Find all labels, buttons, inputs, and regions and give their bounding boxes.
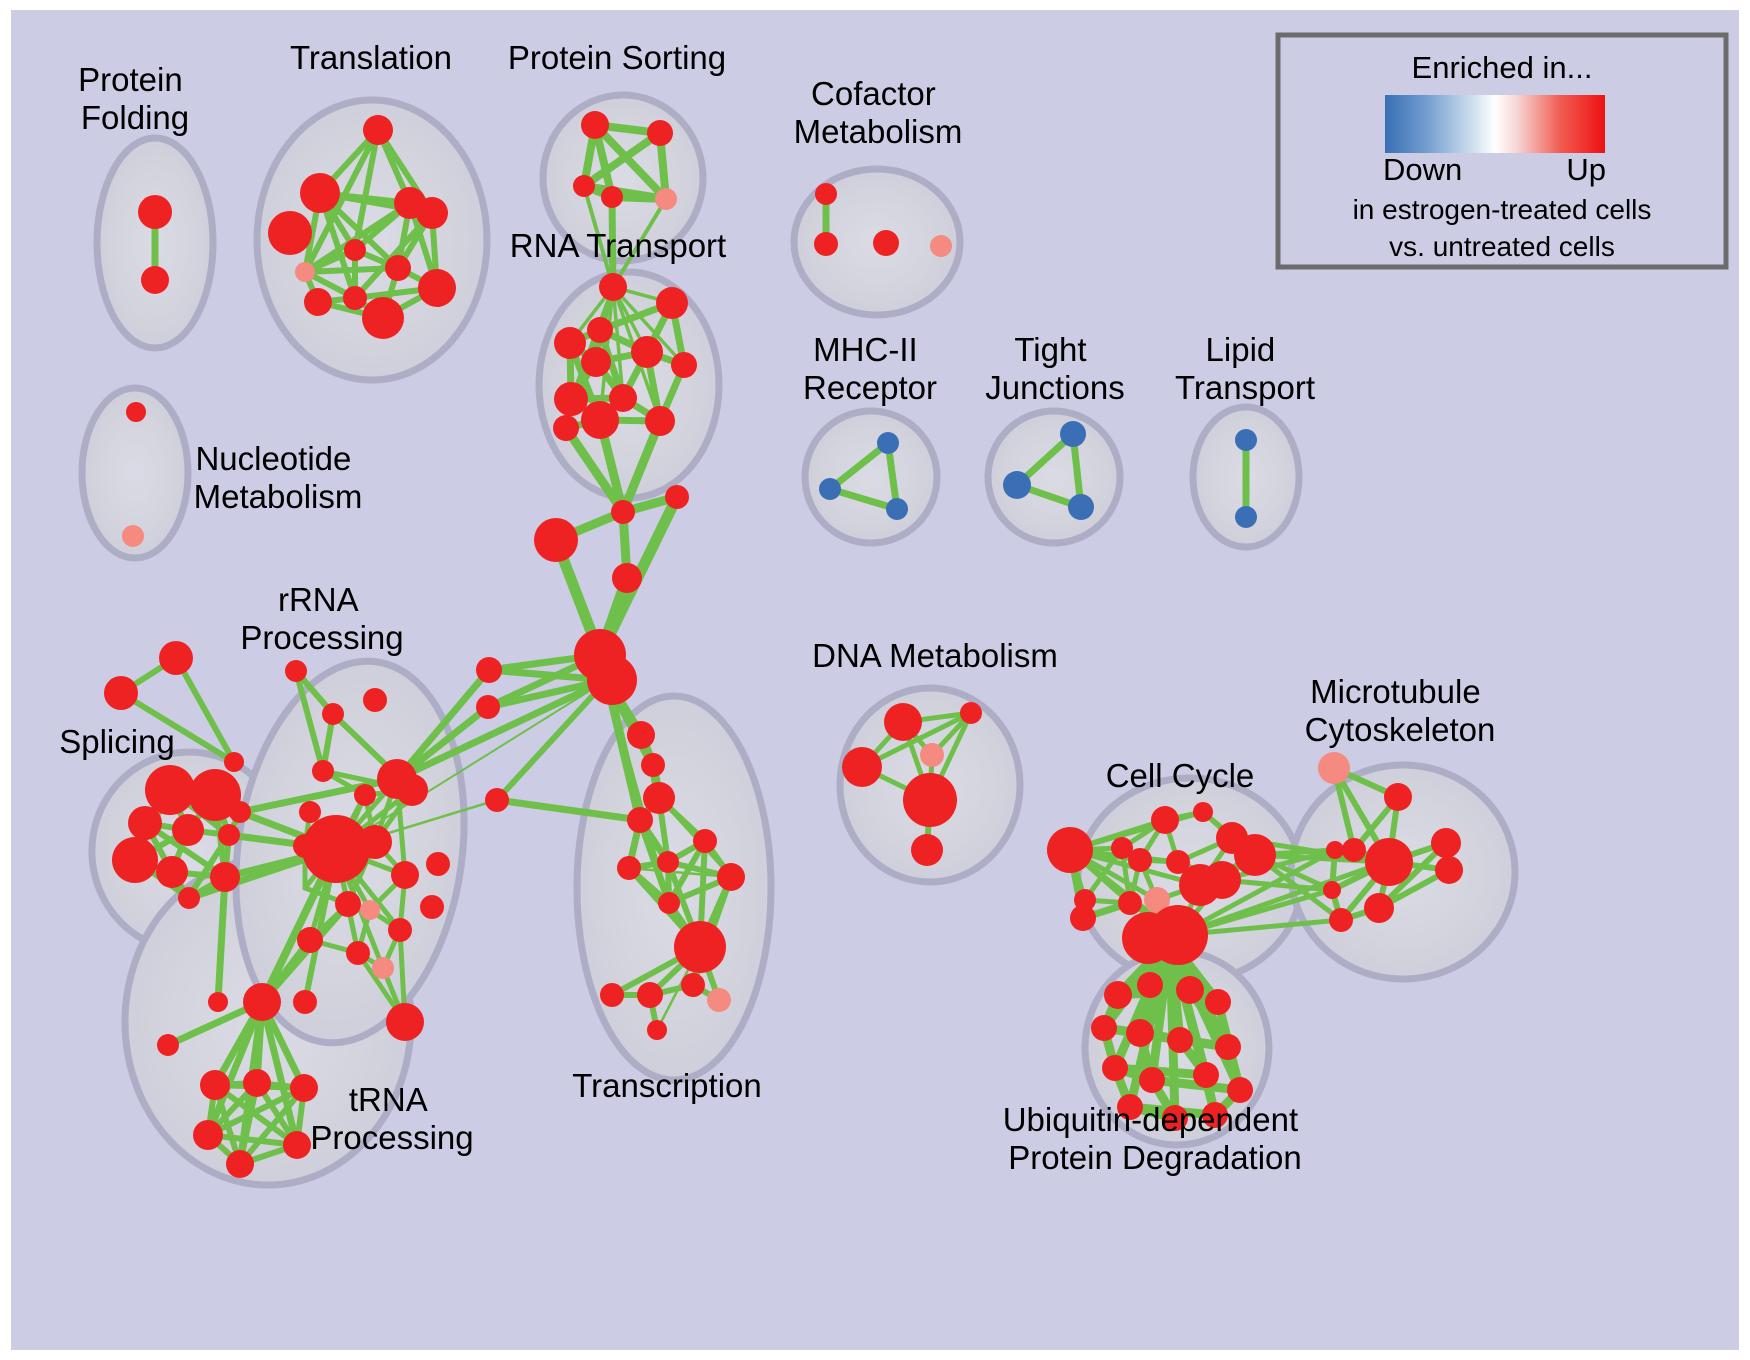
node (815, 183, 837, 205)
cluster-blob-transcription (577, 696, 771, 1080)
node (960, 702, 982, 724)
node (172, 814, 204, 846)
node (641, 753, 665, 777)
node (587, 317, 613, 343)
node (581, 347, 611, 377)
cluster-label-transcription: Transcription (572, 1067, 762, 1104)
node (643, 782, 675, 814)
node (1431, 828, 1461, 858)
node (476, 657, 502, 683)
cluster-label-protein-sorting: Protein Sorting (508, 39, 726, 76)
node (1326, 841, 1344, 859)
node (671, 352, 697, 378)
node (877, 432, 899, 454)
node (126, 402, 146, 422)
node (218, 824, 240, 846)
node (647, 120, 673, 146)
node (138, 195, 172, 229)
node (157, 1034, 179, 1056)
node (354, 784, 376, 806)
node (911, 834, 943, 866)
node (300, 173, 340, 213)
node (674, 921, 726, 973)
node (386, 1003, 424, 1041)
node (377, 759, 417, 799)
node (554, 327, 586, 359)
node (1365, 838, 1413, 886)
node (920, 743, 944, 767)
node (573, 175, 595, 197)
cluster-label-rna-transport: RNA Transport (510, 227, 726, 264)
node (657, 851, 679, 873)
node (1203, 861, 1241, 899)
node (1176, 976, 1204, 1004)
node (285, 660, 307, 682)
legend-caption-line1: in estrogen-treated cells (1353, 194, 1652, 225)
node (1193, 1062, 1219, 1088)
legend: Enriched in... Down Up in estrogen-treat… (1278, 35, 1726, 267)
cluster-label-microtubule-cytoskeleton: Microtubule Cytoskeleton (1305, 673, 1496, 748)
node (363, 688, 387, 712)
node (360, 900, 380, 920)
node (372, 957, 394, 979)
node (1435, 856, 1463, 884)
node (210, 862, 240, 892)
node (1139, 1067, 1165, 1093)
node (581, 401, 619, 439)
node (873, 230, 899, 256)
node (344, 239, 366, 261)
node (243, 1069, 271, 1097)
node (707, 988, 731, 1012)
node (1074, 889, 1096, 911)
legend-title: Enriched in... (1412, 50, 1593, 85)
node (358, 825, 392, 859)
node (1384, 783, 1412, 811)
node (1151, 806, 1179, 834)
node (1091, 1015, 1117, 1041)
figure-root: Protein Folding Translation Protein Sort… (0, 0, 1750, 1360)
node (1215, 1034, 1241, 1060)
node (1126, 1019, 1154, 1047)
node (416, 197, 448, 229)
node (1047, 827, 1093, 873)
cluster-label-splicing: Splicing (59, 723, 175, 760)
cluster-label-protein-folding: Protein Folding (78, 61, 192, 136)
node (476, 695, 500, 719)
node (141, 266, 169, 294)
node (1003, 471, 1031, 499)
node (297, 927, 323, 953)
node (243, 983, 281, 1021)
node (601, 186, 623, 208)
node (681, 973, 705, 997)
node (208, 992, 228, 1012)
node (1122, 912, 1174, 964)
node (159, 641, 193, 675)
node (304, 288, 332, 316)
node (637, 982, 663, 1008)
node (128, 806, 162, 840)
cluster-label-mhc-ii-receptor: MHC-II Receptor (803, 331, 937, 406)
node (819, 478, 841, 500)
node (426, 852, 450, 876)
cluster-label-cofactor-metabolism: Cofactor Metabolism (794, 75, 963, 150)
node (363, 115, 393, 145)
node (293, 990, 317, 1014)
node (717, 863, 745, 891)
node (1102, 1055, 1128, 1081)
node (884, 703, 922, 741)
node (312, 760, 334, 782)
node (346, 941, 370, 965)
node (1234, 834, 1276, 876)
cluster-label-dna-metabolism: DNA Metabolism (812, 637, 1058, 674)
node (418, 269, 456, 307)
node (1364, 893, 1394, 923)
node (1137, 972, 1163, 998)
node (658, 892, 680, 914)
legend-low-label: Down (1383, 152, 1462, 187)
node (420, 895, 444, 919)
node (656, 287, 688, 319)
node (611, 500, 635, 524)
node (343, 286, 367, 310)
node (104, 676, 138, 710)
cluster-label-cell-cycle: Cell Cycle (1106, 757, 1255, 794)
legend-high-label: Up (1566, 152, 1606, 187)
node (156, 856, 188, 888)
node (903, 773, 957, 827)
node (554, 382, 588, 416)
node (600, 983, 624, 1007)
node (335, 891, 361, 917)
node (322, 703, 344, 725)
node (930, 235, 952, 257)
node (299, 801, 321, 823)
node (122, 525, 144, 547)
cluster-blob-mhc-ii-receptor (805, 411, 937, 543)
node (534, 518, 578, 562)
node (617, 856, 641, 880)
node (693, 829, 717, 853)
legend-caption-line2: vs. untreated cells (1389, 231, 1615, 262)
node (1318, 752, 1350, 784)
node (178, 887, 200, 909)
node (1167, 1027, 1193, 1053)
node (1068, 494, 1094, 520)
node (112, 837, 158, 883)
node (631, 336, 663, 368)
network-diagram: Protein Folding Translation Protein Sort… (0, 0, 1750, 1360)
node (1329, 908, 1353, 932)
node (145, 765, 195, 815)
node (599, 273, 627, 301)
node (665, 485, 689, 509)
node (485, 788, 509, 812)
node (388, 918, 412, 942)
node (1227, 1077, 1253, 1103)
cluster-label-nucleotide-metabolism: Nucleotide Metabolism (194, 440, 363, 515)
node (224, 752, 244, 772)
cluster-label-ubiquitin-protein-degradation: Ubiquitin-dependent Protein Degradation (1003, 1101, 1308, 1176)
node (581, 111, 609, 139)
legend-gradient-bar (1385, 95, 1605, 153)
node (268, 211, 312, 255)
node (1060, 421, 1086, 447)
node (553, 415, 579, 441)
node (655, 188, 677, 210)
node (647, 1020, 667, 1040)
node (886, 498, 908, 520)
node (587, 655, 637, 705)
node (1118, 891, 1142, 915)
node (1193, 802, 1213, 822)
node (290, 1074, 318, 1102)
node (627, 721, 655, 749)
node (645, 406, 675, 436)
node (362, 297, 404, 339)
node (295, 262, 315, 282)
node (1235, 429, 1257, 451)
node (1235, 506, 1257, 528)
node (1111, 837, 1133, 859)
node (229, 801, 251, 823)
node (1104, 981, 1132, 1009)
node (283, 1131, 311, 1159)
node (200, 1070, 230, 1100)
node (391, 861, 419, 889)
node (1205, 989, 1231, 1015)
node (226, 1150, 254, 1178)
node (627, 807, 653, 833)
node (385, 255, 411, 281)
node (612, 563, 642, 593)
node (1342, 838, 1366, 862)
node (193, 1120, 223, 1150)
node (1323, 881, 1341, 899)
cluster-label-translation: Translation (290, 39, 452, 76)
node (842, 747, 882, 787)
node (814, 232, 838, 256)
